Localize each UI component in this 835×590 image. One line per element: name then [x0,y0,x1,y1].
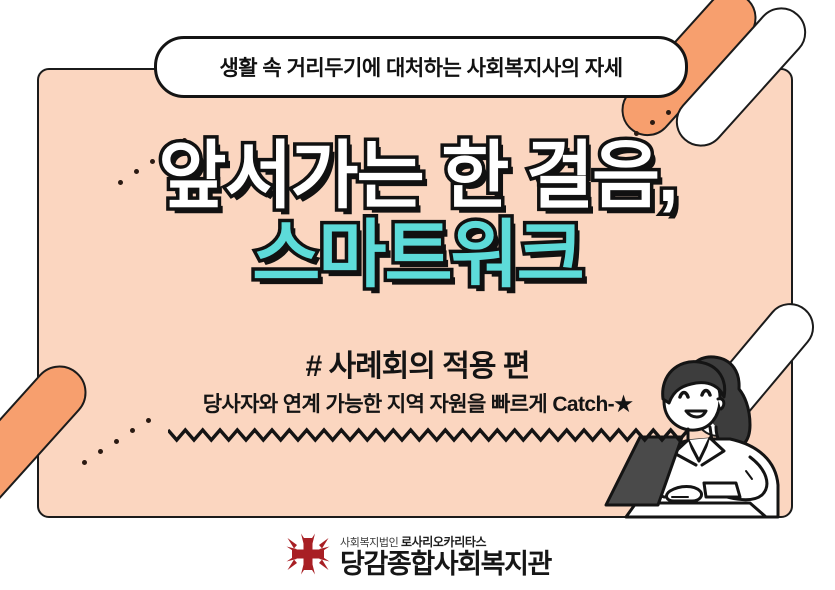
caritas-cross-icon [284,531,332,579]
logo-org-name: 당감종합사회복지관 [340,551,551,578]
decoration-dots-top-right [602,110,672,160]
logo-text-block: 사회복지법인 로사리오카리타스 당감종합사회복지관 [340,533,551,578]
logo-org-parent: 로사리오카리타스 [401,535,486,549]
footer-logo: 사회복지법인 로사리오카리타스 당감종합사회복지관 [0,524,835,586]
header-pill-text: 생활 속 거리두기에 대처하는 사회복지사의 자세 [219,52,622,82]
header-pill: 생활 속 거리두기에 대처하는 사회복지사의 자세 [154,36,688,98]
poster-canvas: 생활 속 거리두기에 대처하는 사회복지사의 자세 앞서가는 한 걸음, 스마트… [0,0,835,590]
subtitle-tagline: 당사자와 연계 가능한 지역 자원을 빠르게 Catch-★ [0,388,835,418]
logo-org-type: 사회복지법인 [340,537,398,549]
logo-org-type-row: 사회복지법인 로사리오카리타스 [340,533,551,550]
decoration-dots-top-left [118,138,188,188]
subtitle-hashtag: # 사례회의 적용 편 [0,341,835,385]
zigzag-divider [168,424,688,446]
decoration-dots-bottom-left [82,418,152,468]
